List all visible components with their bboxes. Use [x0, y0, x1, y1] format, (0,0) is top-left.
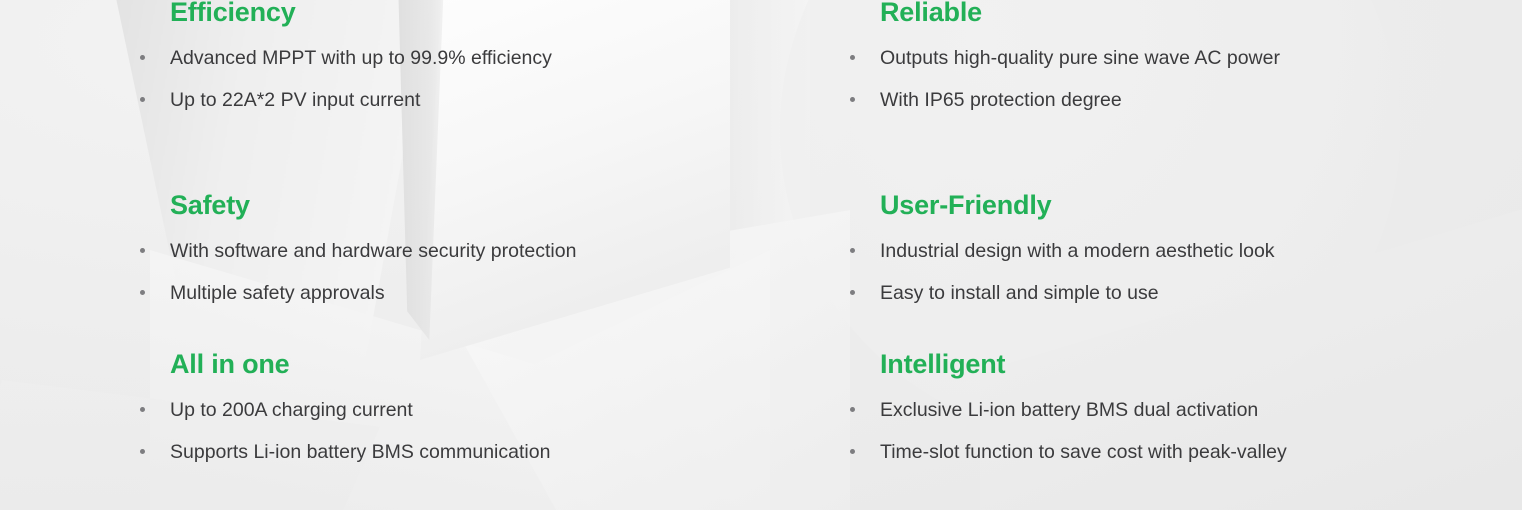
feature-section-reliable: Reliable Outputs high-quality pure sine …: [849, 0, 1509, 112]
feature-bullet-list: Outputs high-quality pure sine wave AC p…: [849, 46, 1509, 112]
bullet-dot-icon: [850, 449, 855, 454]
feature-section-intelligent: Intelligent Exclusive Li-ion battery BMS…: [849, 348, 1509, 464]
section-heading: Efficiency: [170, 0, 799, 28]
list-item: Up to 22A*2 PV input current: [139, 88, 799, 112]
list-item: Exclusive Li-ion battery BMS dual activa…: [849, 398, 1509, 422]
list-item: Supports Li-ion battery BMS communicatio…: [139, 440, 799, 464]
list-item: Multiple safety approvals: [139, 281, 799, 305]
bullet-dot-icon: [850, 248, 855, 253]
section-heading: User-Friendly: [880, 189, 1509, 221]
bullet-text: With software and hardware security prot…: [170, 240, 576, 262]
bullet-text: Outputs high-quality pure sine wave AC p…: [880, 47, 1280, 69]
list-item: Up to 200A charging current: [139, 398, 799, 422]
bullet-dot-icon: [850, 97, 855, 102]
bullet-dot-icon: [140, 407, 145, 412]
feature-bullet-list: Industrial design with a modern aestheti…: [849, 239, 1509, 305]
feature-section-all-in-one: All in one Up to 200A charging current S…: [139, 348, 799, 464]
feature-slide: Efficiency Advanced MPPT with up to 99.9…: [0, 0, 1522, 510]
list-item: Outputs high-quality pure sine wave AC p…: [849, 46, 1509, 70]
list-item: Time-slot function to save cost with pea…: [849, 440, 1509, 464]
list-item: Advanced MPPT with up to 99.9% efficienc…: [139, 46, 799, 70]
feature-section-user-friendly: User-Friendly Industrial design with a m…: [849, 189, 1509, 305]
feature-bullet-list: Exclusive Li-ion battery BMS dual activa…: [849, 398, 1509, 464]
feature-bullet-list: Up to 200A charging current Supports Li-…: [139, 398, 799, 464]
feature-section-efficiency: Efficiency Advanced MPPT with up to 99.9…: [139, 0, 799, 112]
section-heading: Intelligent: [880, 348, 1509, 380]
feature-section-safety: Safety With software and hardware securi…: [139, 189, 799, 305]
bullet-dot-icon: [140, 449, 145, 454]
section-heading: Safety: [170, 189, 799, 221]
bullet-dot-icon: [850, 290, 855, 295]
bullet-dot-icon: [140, 290, 145, 295]
bullet-text: Advanced MPPT with up to 99.9% efficienc…: [170, 47, 552, 69]
list-item: With IP65 protection degree: [849, 88, 1509, 112]
bullet-dot-icon: [140, 248, 145, 253]
bullet-dot-icon: [140, 97, 145, 102]
feature-columns: Efficiency Advanced MPPT with up to 99.9…: [0, 0, 1522, 510]
feature-bullet-list: Advanced MPPT with up to 99.9% efficienc…: [139, 46, 799, 112]
bullet-text: Exclusive Li-ion battery BMS dual activa…: [880, 399, 1258, 421]
bullet-dot-icon: [850, 407, 855, 412]
list-item: Industrial design with a modern aestheti…: [849, 239, 1509, 263]
bullet-text: Multiple safety approvals: [170, 282, 385, 304]
bullet-dot-icon: [850, 55, 855, 60]
bullet-text: Industrial design with a modern aestheti…: [880, 240, 1275, 262]
bullet-text: With IP65 protection degree: [880, 89, 1122, 111]
bullet-text: Time-slot function to save cost with pea…: [880, 441, 1287, 463]
feature-bullet-list: With software and hardware security prot…: [139, 239, 799, 305]
list-item: Easy to install and simple to use: [849, 281, 1509, 305]
bullet-text: Up to 22A*2 PV input current: [170, 89, 420, 111]
bullet-text: Easy to install and simple to use: [880, 282, 1159, 304]
section-heading: Reliable: [880, 0, 1509, 28]
bullet-text: Supports Li-ion battery BMS communicatio…: [170, 441, 550, 463]
list-item: With software and hardware security prot…: [139, 239, 799, 263]
bullet-dot-icon: [140, 55, 145, 60]
section-heading: All in one: [170, 348, 799, 380]
bullet-text: Up to 200A charging current: [170, 399, 413, 421]
